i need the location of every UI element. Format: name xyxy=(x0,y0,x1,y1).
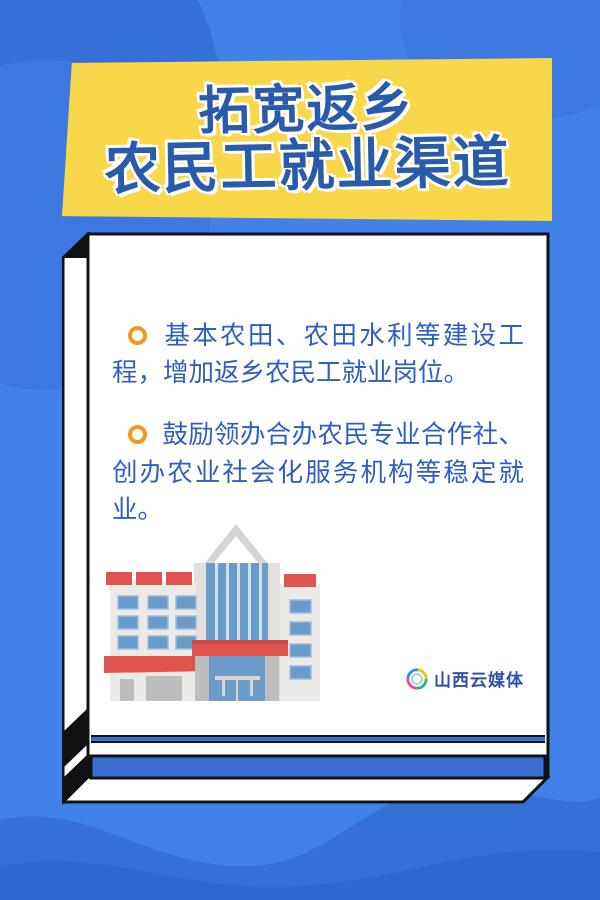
content-card: 基本农田、农田水利等建设工程，增加返乡农民工就业岗位。 鼓励领办合办农民专业合作… xyxy=(62,232,550,805)
title-line-2: 农民工就业渠道 xyxy=(104,135,511,200)
bullet-text: 鼓励领办合办农民专业合作社、创办农业社会化服务机构等稳定就业。 xyxy=(112,421,524,523)
card-body: 基本农田、农田水利等建设工程，增加返乡农民工就业岗位。 鼓励领办合办农民专业合作… xyxy=(88,254,544,750)
bullet-list: 基本农田、农田水利等建设工程，增加返乡农民工就业岗位。 鼓励领办合办农民专业合作… xyxy=(112,292,524,529)
circle-outline-icon xyxy=(128,326,147,345)
title-line-1: 拓宽返乡 xyxy=(198,81,415,138)
circle-outline-icon xyxy=(128,425,147,444)
brand-name-text: 山西云媒体 xyxy=(434,666,524,691)
title-banner: 拓宽返乡 农民工就业渠道 xyxy=(62,58,552,221)
list-item: 鼓励领办合办农民专业合作社、创办农业社会化服务机构等稳定就业。 xyxy=(112,417,524,529)
poster-canvas: 拓宽返乡 农民工就业渠道 基 xyxy=(0,0,600,900)
list-item: 基本农田、农田水利等建设工程，增加返乡农民工就业岗位。 xyxy=(112,318,524,392)
brand-logo: 山西云媒体 xyxy=(406,666,524,691)
shanxi-yun-media-logo-icon xyxy=(406,668,428,690)
bullet-text: 基本农田、农田水利等建设工程，增加返乡农民工就业岗位。 xyxy=(112,322,524,387)
government-buildings-illustration xyxy=(96,516,376,701)
